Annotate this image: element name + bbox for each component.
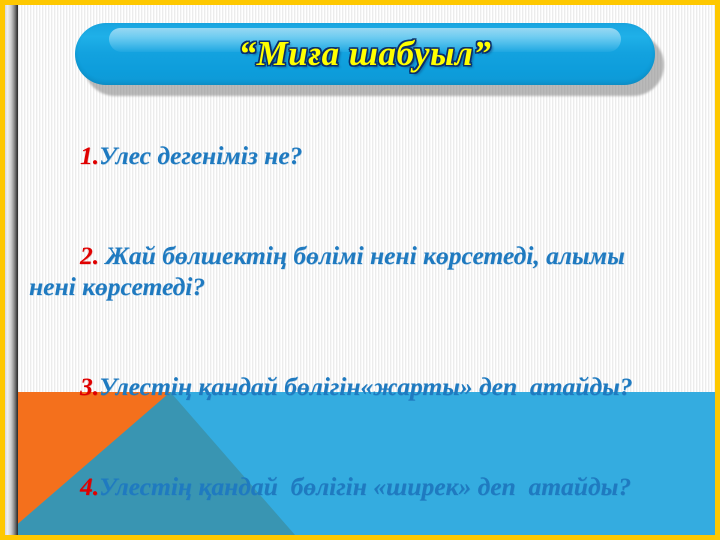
list-item: 3.Улестің қандай бөлігін«жарты» деп атай… [29, 340, 669, 433]
question-text: Улестің қандай бөлігін «ширек» деп атайд… [99, 472, 631, 501]
question-text: Улестің қандай бөлігін«жарты» деп атайды… [99, 372, 632, 401]
question-number: 3. [80, 372, 99, 401]
list-item: 2. Жай бөлшектің бөлімі нені көрсетеді, … [29, 209, 669, 333]
list-item: 4.Улестің қандай бөлігін «ширек» деп ата… [29, 440, 669, 533]
question-text: Улес дегеніміз не? [99, 141, 302, 170]
question-text: Жай бөлшектің бөлімі нені көрсетеді, алы… [29, 241, 631, 301]
left-edge-gradient-bar [5, 5, 18, 535]
page-title: “Миға шабуыл” [75, 23, 655, 85]
presentation-slide: “Миға шабуыл” 1.Улес дегеніміз не? 2. Жа… [0, 0, 720, 540]
question-number: 1. [80, 141, 99, 170]
question-number: 4. [80, 472, 99, 501]
question-number: 2. [80, 241, 99, 270]
question-list: 1.Улес дегеніміз не? 2. Жай бөлшектің бө… [29, 109, 669, 533]
slide-canvas: “Миға шабуыл” 1.Улес дегеніміз не? 2. Жа… [5, 5, 715, 535]
list-item: 1.Улес дегеніміз не? [29, 109, 669, 202]
slide-title-banner: “Миға шабуыл” [75, 23, 655, 89]
